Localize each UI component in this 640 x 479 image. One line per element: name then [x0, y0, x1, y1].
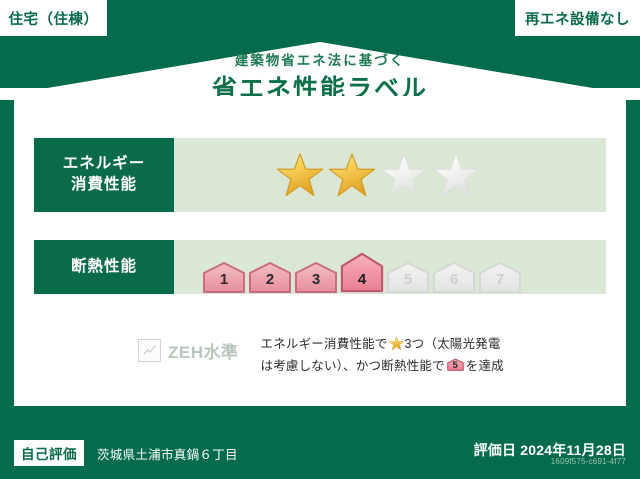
star-rating	[174, 151, 480, 199]
insulation-level-number: 1	[202, 272, 246, 287]
insulation-performance-value: 1 2 3	[174, 240, 606, 294]
zeh-desc-line2-a: は考慮しない）、かつ断熱性能で	[261, 359, 445, 373]
building-type-tag: 住宅（住棟）	[0, 0, 107, 36]
zeh-level-chip-number: 5	[447, 361, 464, 371]
insulation-level-scale: 1 2 3	[174, 240, 522, 294]
insulation-level-badge: 6	[432, 260, 476, 294]
insulation-level-badge: 2	[248, 260, 292, 294]
zeh-label: ZEH水準	[168, 338, 239, 363]
evaluation-id: 1609f575-c691-4f77	[551, 457, 626, 466]
property-address: 茨城県土浦市真鍋６丁目	[97, 444, 238, 463]
zeh-description: エネルギー消費性能で3つ（太陽光発電 は考慮しない）、かつ断熱性能で5を達成	[239, 330, 504, 378]
energy-caption-line1: エネルギー	[63, 154, 146, 175]
insulation-level-badge: 3	[294, 260, 338, 294]
energy-performance-value	[174, 138, 606, 212]
star-empty-icon	[432, 151, 480, 199]
star-filled-icon	[276, 151, 324, 199]
insulation-level-number: 7	[478, 272, 522, 287]
star-empty-icon	[380, 151, 428, 199]
star-inline-icon	[389, 336, 404, 351]
zeh-glyph-icon	[143, 345, 156, 356]
energy-caption-line2: 消費性能	[71, 175, 137, 196]
zeh-mark: ZEH水準	[34, 330, 239, 363]
zeh-check-icon	[138, 339, 161, 362]
insulation-caption-label: 断熱性能	[71, 257, 137, 278]
energy-performance-row: エネルギー 消費性能	[34, 138, 606, 212]
zeh-desc-line1-b: 3つ（太陽光発電	[405, 337, 501, 351]
renewable-energy-tag: 再エネ設備なし	[515, 0, 640, 36]
insulation-performance-row: 断熱性能 1	[34, 240, 606, 294]
renewable-energy-tag-label: 再エネ設備なし	[525, 8, 630, 29]
zeh-desc-line1-a: エネルギー消費性能で	[261, 337, 388, 351]
insulation-level-badge: 1	[202, 260, 246, 294]
self-assessment-label: 自己評価	[21, 447, 77, 462]
energy-performance-caption: エネルギー 消費性能	[34, 138, 174, 212]
insulation-level-badge: 5	[386, 260, 430, 294]
label-header: 住宅（住棟） 再エネ設備なし 建築物省エネ法に基づく 省エネ性能ラベル	[0, 0, 640, 100]
star-filled-icon	[328, 151, 376, 199]
insulation-level-badge: 7	[478, 260, 522, 294]
insulation-level-number: 4	[340, 272, 384, 287]
insulation-level-number: 2	[248, 272, 292, 287]
insulation-level-number: 3	[294, 272, 338, 287]
insulation-level-number: 6	[432, 272, 476, 287]
insulation-level-number: 5	[386, 272, 430, 287]
zeh-desc-line2-b: を達成	[466, 359, 504, 373]
zeh-standard-row: ZEH水準 エネルギー消費性能で3つ（太陽光発電 は考慮しない）、かつ断熱性能で…	[34, 330, 606, 390]
zeh-level-chip: 5	[447, 357, 464, 372]
self-assessment-badge: 自己評価	[14, 440, 84, 466]
insulation-performance-caption: 断熱性能	[34, 240, 174, 294]
energy-performance-label: 住宅（住棟） 再エネ設備なし 建築物省エネ法に基づく 省エネ性能ラベル エネルギ…	[0, 0, 640, 479]
insulation-level-badge-achieved: 4	[340, 250, 384, 294]
building-type-tag-label: 住宅（住棟）	[9, 8, 99, 29]
